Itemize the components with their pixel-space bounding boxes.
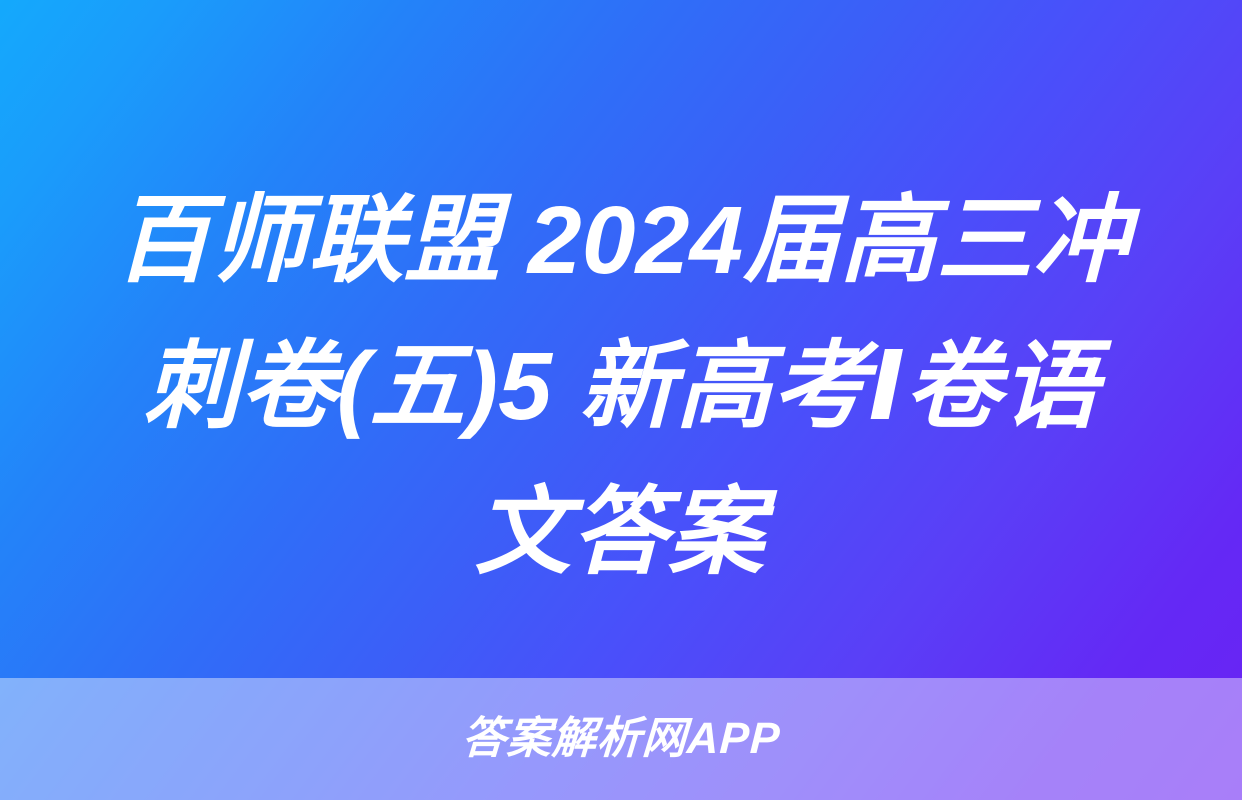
footer-band: 答案解析网APP [0, 678, 1242, 800]
title-line-1: 百师联盟 2024届高三冲 [79, 168, 1166, 314]
watermark-label: 答案解析网APP [461, 717, 782, 761]
title-line-3: 文答案 [76, 460, 1163, 606]
page-title: 百师联盟 2024届高三冲 刺卷(五)5 新高考Ⅰ卷语 文答案 [0, 168, 1242, 606]
poster-root: 百师联盟 2024届高三冲 刺卷(五)5 新高考Ⅰ卷语 文答案 答案解析网APP [0, 0, 1242, 800]
title-line-2: 刺卷(五)5 新高考Ⅰ卷语 [77, 314, 1164, 460]
